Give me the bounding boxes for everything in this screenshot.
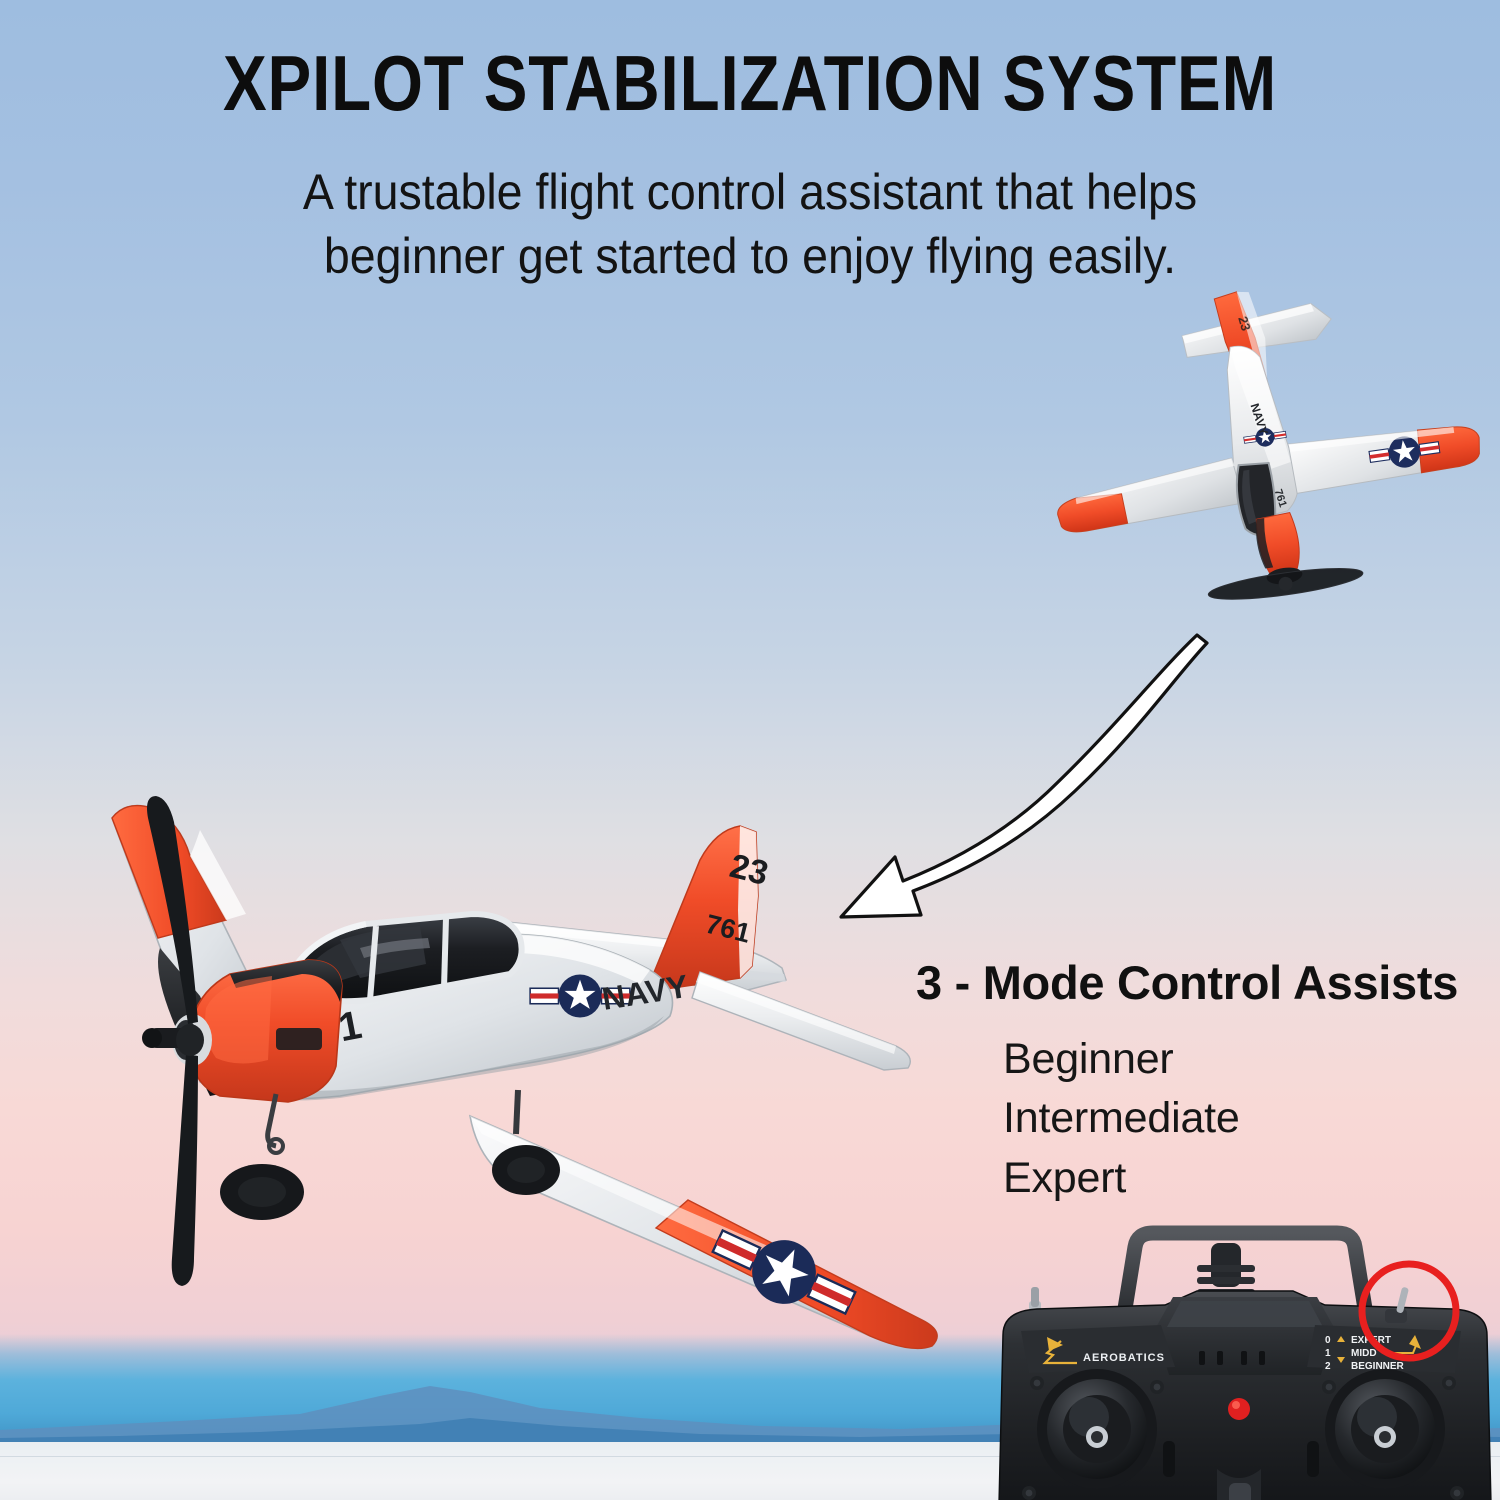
subtitle-line-1: A trustable flight control assistant tha…	[53, 160, 1448, 224]
mode-switch-toggle	[1385, 1287, 1409, 1323]
rc-transmitter-illustration: AEROBATICS 0 EXPERT 1 MIDD 2 BEGINNER	[985, 1225, 1500, 1500]
poster-canvas: XPILOT STABILIZATION SYSTEM A trustable …	[0, 0, 1500, 1500]
right-gimbal	[1325, 1369, 1445, 1489]
aerobatics-label-text: AEROBATICS	[1083, 1352, 1165, 1364]
subtitle-line-2: beginner get started to enjoy flying eas…	[53, 224, 1448, 288]
switch-row-1-label: MIDD	[1351, 1348, 1377, 1359]
switch-row-0-index: 0	[1325, 1335, 1331, 1346]
switch-row-2-index: 2	[1325, 1361, 1331, 1372]
mode-list: Beginner Intermediate Expert	[1003, 1030, 1240, 1208]
mode-item-beginner: Beginner	[1003, 1030, 1240, 1089]
left-gimbal	[1037, 1369, 1157, 1489]
landing-gear	[220, 1090, 560, 1220]
mode-item-expert: Expert	[1003, 1149, 1240, 1208]
switch-row-1-index: 1	[1325, 1348, 1331, 1359]
subtitle: A trustable flight control assistant tha…	[53, 160, 1448, 288]
aircraft-primary-illustration: 23 761	[40, 760, 1000, 1350]
antenna	[1197, 1243, 1255, 1296]
mode-item-intermediate: Intermediate	[1003, 1089, 1240, 1148]
page-title: XPILOT STABILIZATION SYSTEM	[120, 44, 1380, 122]
vertical-fin: 23 761	[646, 826, 910, 1070]
